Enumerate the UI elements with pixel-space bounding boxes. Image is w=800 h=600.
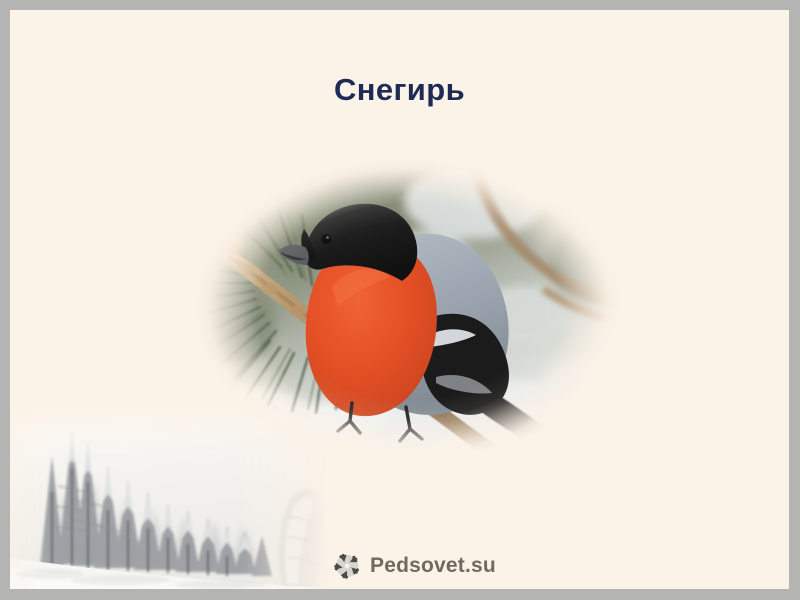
slide-frame: Снегирь xyxy=(0,0,800,600)
winter-forest-photo xyxy=(10,408,332,589)
footer-watermark[interactable]: Pedsovet.su xyxy=(332,551,496,581)
slide-canvas: Снегирь xyxy=(10,10,789,589)
pedsovet-flower-hands-logo xyxy=(332,551,362,581)
page-title: Снегирь xyxy=(10,73,789,107)
footer-site-name: Pedsovet.su xyxy=(370,554,496,578)
